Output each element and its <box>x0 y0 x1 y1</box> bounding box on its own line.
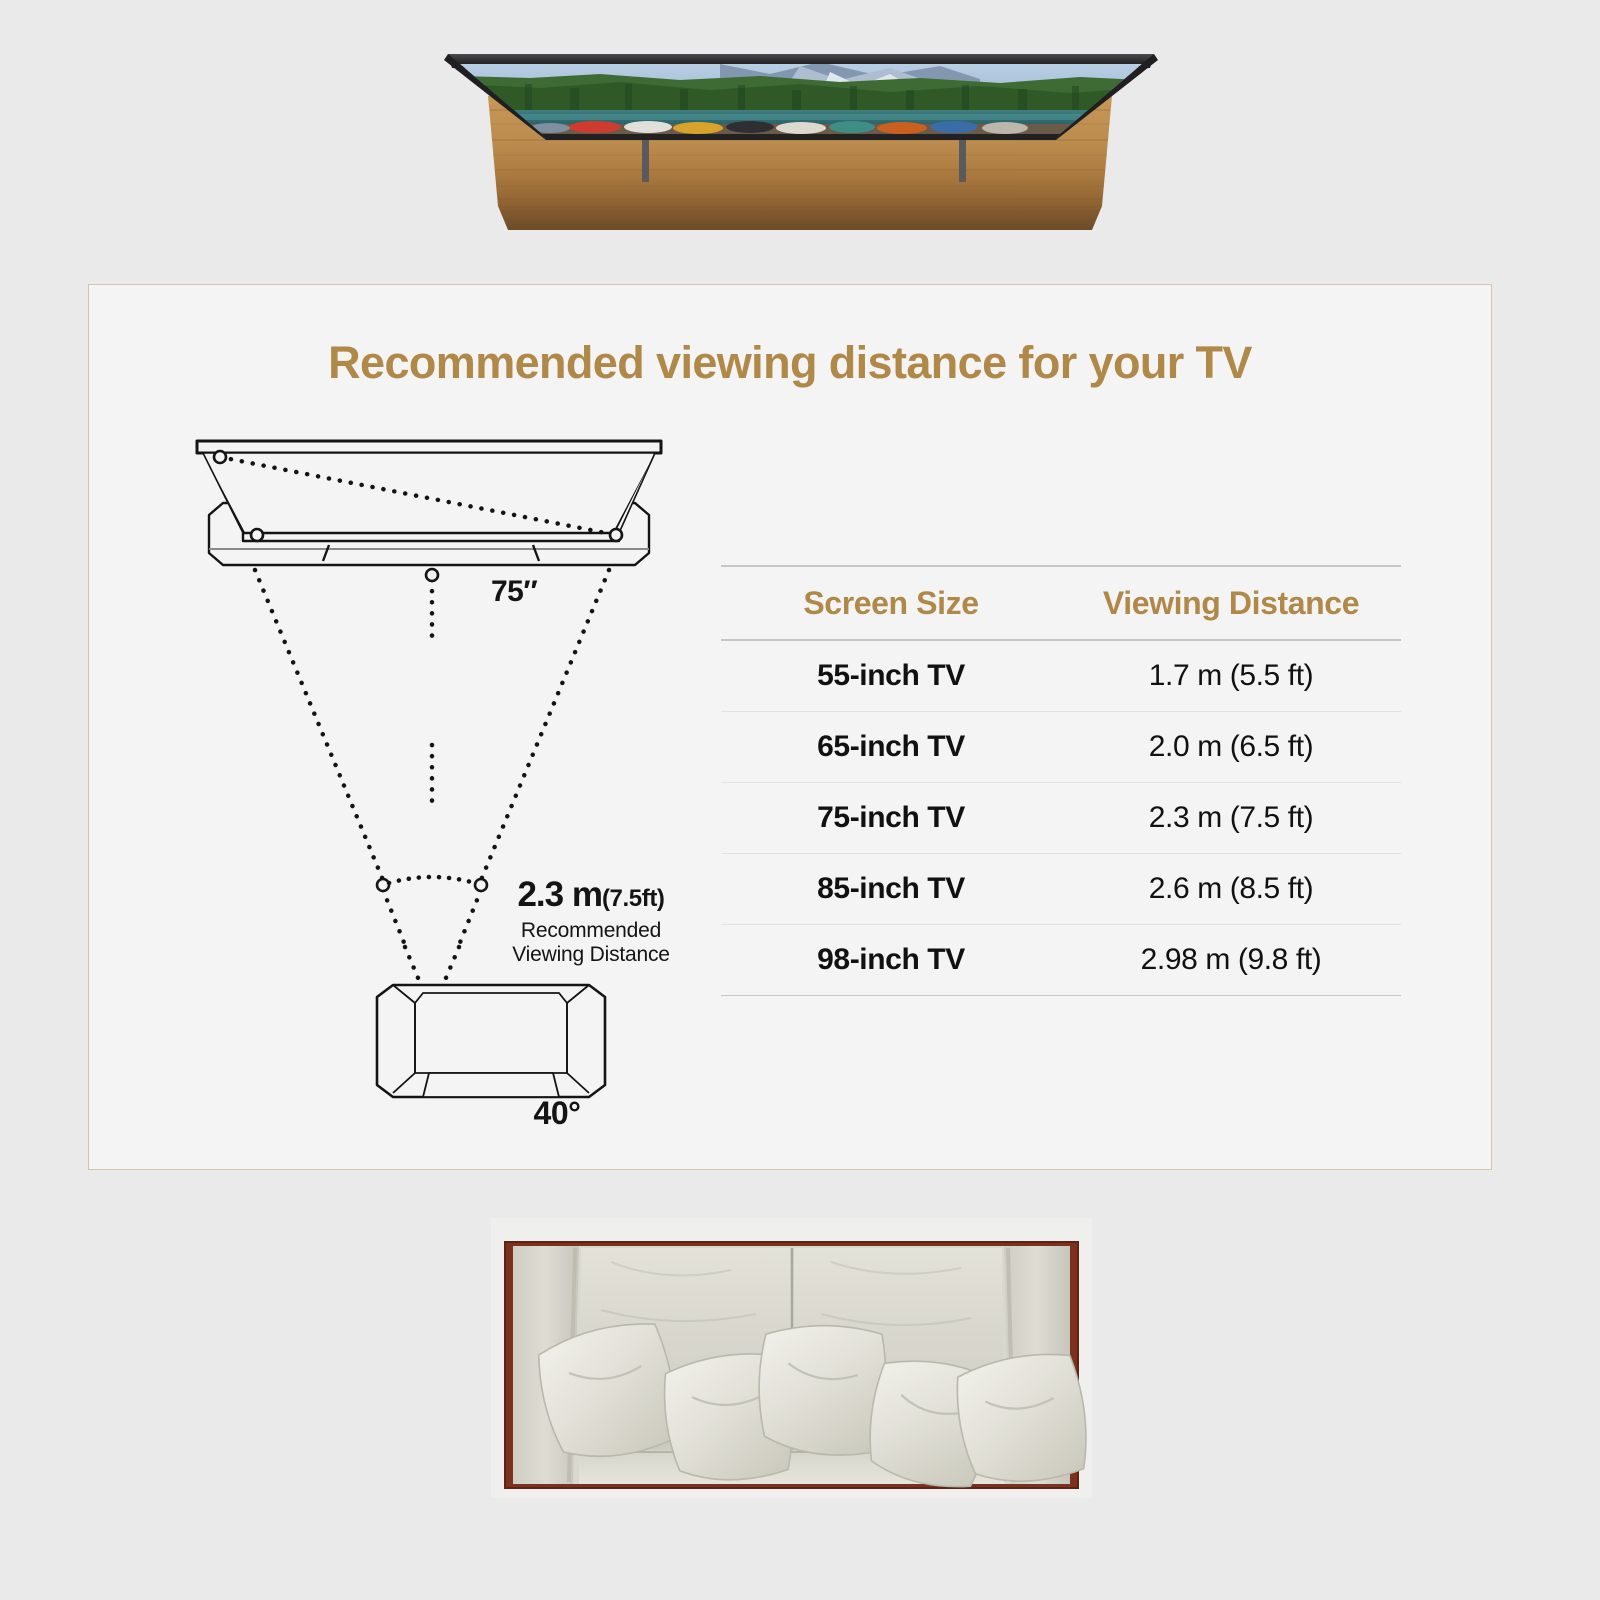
viewing-distance-card: Recommended viewing distance for your TV <box>88 284 1492 1170</box>
viewing-angle-label: 40° <box>477 1095 637 1132</box>
cell-viewing-distance: 2.3 m (7.5 ft) <box>1061 783 1401 854</box>
infographic-root: Recommended viewing distance for your TV <box>0 0 1600 1600</box>
sofa-top-view-photo <box>491 1218 1092 1498</box>
cell-viewing-distance: 2.98 m (9.8 ft) <box>1061 925 1401 996</box>
page-title: Recommended viewing distance for your TV <box>89 337 1491 389</box>
tv-screen <box>444 54 1158 140</box>
recommended-distance-label: 2.3 m(7.5ft) Recommended Viewing Distanc… <box>441 877 741 968</box>
viewing-distance-table-wrapper: Screen Size Viewing Distance 55-inch TV … <box>721 565 1401 996</box>
cell-screen-size: 85-inch TV <box>721 854 1061 925</box>
tv-on-wooden-console-photo <box>420 24 1180 239</box>
cell-viewing-distance: 1.7 m (5.5 ft) <box>1061 640 1401 712</box>
cell-screen-size: 75-inch TV <box>721 783 1061 854</box>
viewing-distance-table: Screen Size Viewing Distance 55-inch TV … <box>721 565 1401 996</box>
cell-screen-size: 98-inch TV <box>721 925 1061 996</box>
cell-screen-size: 55-inch TV <box>721 640 1061 712</box>
cell-viewing-distance: 2.0 m (6.5 ft) <box>1061 712 1401 783</box>
table-row: 75-inch TV 2.3 m (7.5 ft) <box>721 783 1401 854</box>
distance-caption-line-1: Recommended <box>441 919 741 943</box>
table-row: 85-inch TV 2.6 m (8.5 ft) <box>721 854 1401 925</box>
table-row: 65-inch TV 2.0 m (6.5 ft) <box>721 712 1401 783</box>
table-row: 55-inch TV 1.7 m (5.5 ft) <box>721 640 1401 712</box>
distance-caption-line-2: Viewing Distance <box>441 943 741 967</box>
column-header-viewing-distance: Viewing Distance <box>1061 566 1401 640</box>
screen-size-label: 75″ <box>491 575 537 609</box>
cell-viewing-distance: 2.6 m (8.5 ft) <box>1061 854 1401 925</box>
cushion <box>952 1349 1092 1490</box>
table-row: 98-inch TV 2.98 m (9.8 ft) <box>721 925 1401 996</box>
distance-value: 2.3 m <box>517 875 602 914</box>
sofa-top-view-icon <box>377 985 605 1097</box>
distance-caption: Recommended Viewing Distance <box>441 919 741 968</box>
column-header-screen-size: Screen Size <box>721 566 1061 640</box>
distance-alt-value: (7.5ft) <box>602 885 665 912</box>
table-header-row: Screen Size Viewing Distance <box>721 566 1401 640</box>
cell-screen-size: 65-inch TV <box>721 712 1061 783</box>
viewing-distance-diagram: 75″ 2.3 m(7.5ft) Recommended Viewing Dis… <box>189 425 789 1125</box>
table-body: 55-inch TV 1.7 m (5.5 ft) 65-inch TV 2.0… <box>721 640 1401 996</box>
cushion <box>756 1322 889 1457</box>
